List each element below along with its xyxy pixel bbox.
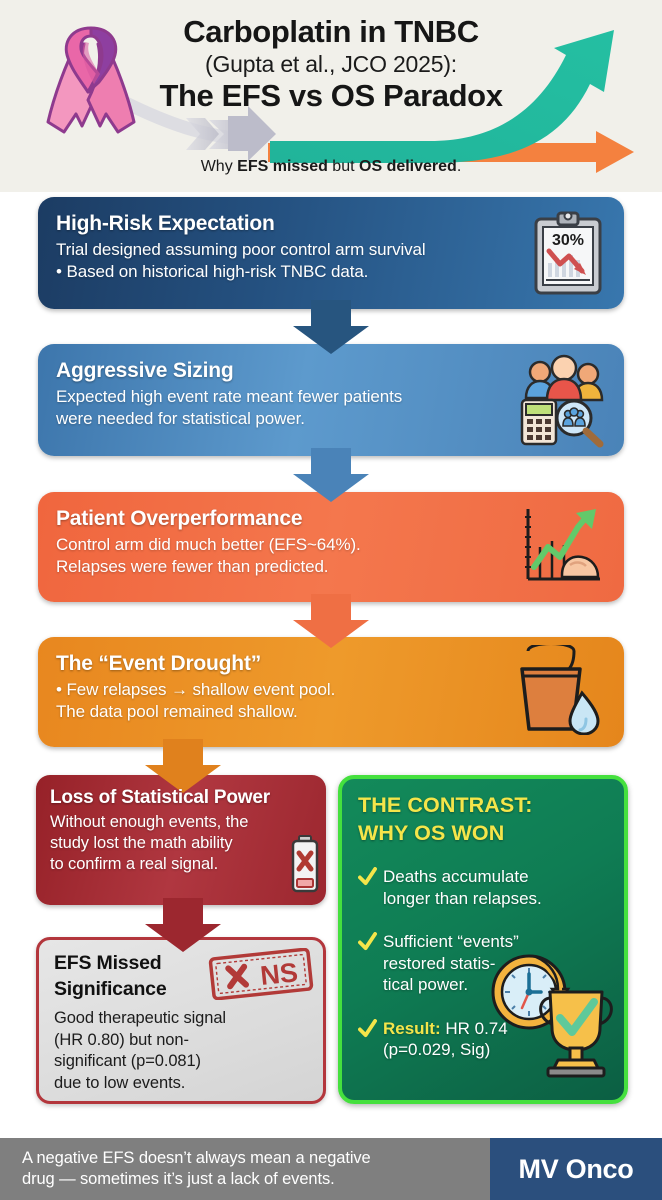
contrast-result-value: HR 0.74 — [441, 1019, 508, 1038]
check-mark-icon — [358, 932, 377, 951]
contrast-item-1-line-2: longer than relapses. — [383, 888, 610, 910]
step-5-body-line-1: Without enough events, the — [50, 812, 305, 833]
header-banner: Carboplatin in TNBC (Gupta et al., JCO 2… — [0, 0, 662, 192]
step-card-aggressive-sizing[interactable]: Aggressive Sizing Expected high event ra… — [38, 344, 624, 456]
step-2-body-line-2: were needed for statistical power. — [56, 408, 516, 430]
clipboard-declining-chart-icon: 30% — [532, 211, 604, 297]
connector-arrow-1 — [283, 300, 379, 354]
efs-missed-body-line-3: significant (p=0.081) — [54, 1051, 309, 1073]
subtitle-end: . — [457, 158, 461, 175]
step-5-title: Loss of Statistical Power — [50, 787, 305, 809]
step-card-event-drought[interactable]: The “Event Drought” • Few relapses → sha… — [38, 637, 624, 747]
step-5-body-line-3: to confirm a real signal. — [50, 854, 305, 875]
step-card-loss-of-statistical-power[interactable]: Loss of Statistical Power Without enough… — [36, 775, 326, 905]
contrast-title-line-1: THE CONTRAST: — [358, 793, 610, 818]
footer-line-1: A negative EFS doesn’t always mean a neg… — [22, 1148, 476, 1169]
step-1-body-line-1: Trial designed assuming poor control arm… — [56, 239, 526, 261]
efs-missed-title-line-1: EFS Missed — [54, 952, 219, 975]
efs-missed-body-line-4: due to low events. — [54, 1073, 309, 1095]
step-2-title: Aggressive Sizing — [56, 358, 516, 383]
step-3-body-line-2: Relapses were fewer than predicted. — [56, 556, 506, 578]
efs-missed-body-line-2: (HR 0.80) but non- — [54, 1030, 309, 1052]
subtitle-mid: but — [328, 158, 359, 175]
check-mark-icon — [358, 867, 377, 886]
flow-diagram: High-Risk Expectation Trial designed ass… — [0, 192, 662, 1138]
connector-arrow-3 — [283, 594, 379, 648]
step-1-body-line-2: • Based on historical high-risk TNBC dat… — [56, 261, 526, 283]
subtitle-pre: Why — [201, 158, 237, 175]
footer-bar: A negative EFS doesn’t always mean a neg… — [0, 1138, 662, 1200]
step-2-body-line-1: Expected high event rate meant fewer pat… — [56, 386, 516, 408]
step-card-patient-overperformance[interactable]: Patient Overperformance Control arm did … — [38, 492, 624, 602]
contrast-result-line-2: (p=0.029, Sig) — [383, 1039, 543, 1061]
bucket-water-drop-icon — [516, 645, 600, 735]
contrast-item-1: Deaths accumulate longer than relapses. — [358, 866, 610, 909]
step-1-title: High-Risk Expectation — [56, 211, 526, 236]
connector-arrow-5 — [135, 898, 231, 952]
contrast-item-2-line-1: Sufficient “events” — [383, 931, 530, 953]
contrast-result: Result: HR 0.74 (p=0.029, Sig) — [358, 1018, 543, 1061]
connector-arrow-2 — [283, 448, 379, 502]
brand-logo-mv-onco[interactable]: MV Onco — [490, 1138, 662, 1200]
contrast-result-label: Result: — [383, 1019, 441, 1038]
step-3-body-line-1: Control arm did much better (EFS~64%). — [56, 534, 506, 556]
step-card-high-risk-expectation[interactable]: High-Risk Expectation Trial designed ass… — [38, 197, 624, 309]
rising-chart-muscle-arm-icon — [518, 503, 604, 589]
header-subtitle: Why EFS missed but OS delivered. — [0, 158, 662, 176]
step-4-body-line-2: The data pool remained shallow. — [56, 701, 506, 723]
subtitle-bold-os: OS delivered — [359, 158, 457, 175]
footer-line-2: drug — sometimes it’s just a lack of eve… — [22, 1169, 476, 1190]
connector-arrow-4 — [135, 739, 231, 793]
step-4-body-line-1: • Few relapses → shallow event pool. — [56, 679, 506, 701]
check-mark-icon — [358, 1019, 377, 1038]
infographic-page: Carboplatin in TNBC (Gupta et al., JCO 2… — [0, 0, 662, 1200]
contrast-title-line-2: WHY OS WON — [358, 821, 610, 846]
outcome-card-efs-missed-significance[interactable]: EFS Missed Significance Good therapeutic… — [36, 937, 326, 1104]
pink-awareness-ribbon-icon — [36, 18, 146, 158]
step-4-title: The “Event Drought” — [56, 651, 506, 676]
contrast-item-2-line-2: restored statis- — [383, 953, 530, 975]
clipboard-percent-label: 30% — [552, 232, 584, 249]
subtitle-bold-efs: EFS missed — [237, 158, 328, 175]
step-3-title: Patient Overperformance — [56, 506, 506, 531]
footer-takeaway-text: A negative EFS doesn’t always mean a neg… — [0, 1138, 490, 1200]
step-5-body-line-2: study lost the math ability — [50, 833, 305, 854]
efs-missed-title-line-2: Significance — [54, 978, 219, 1001]
contrast-card-why-os-won[interactable]: THE CONTRAST: WHY OS WON Deaths accumula… — [338, 775, 628, 1104]
contrast-item-2-line-3: tical power. — [383, 974, 530, 996]
patients-calculator-magnifier-icon — [516, 354, 608, 448]
contrast-item-2: Sufficient “events” restored statis- tic… — [358, 931, 530, 996]
contrast-item-1-line-1: Deaths accumulate — [383, 866, 610, 888]
efs-missed-body-line-1: Good therapeutic signal — [54, 1008, 309, 1030]
